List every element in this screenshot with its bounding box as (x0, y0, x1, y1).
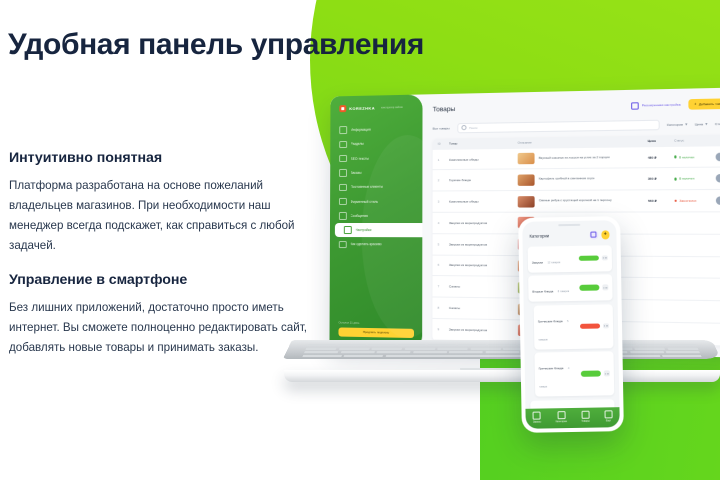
add-product-label: Добавить товар (699, 102, 720, 107)
help-icon (339, 241, 346, 249)
category-count: 12 товаров (547, 261, 560, 264)
row-index: 3 (438, 200, 449, 204)
status-badge: В наличии (674, 154, 712, 159)
row-price: 560 ₽ (648, 199, 675, 203)
sidebar-item-seo[interactable]: SEO-тексты (330, 151, 422, 166)
feature-text: Платформа разработана на основе пожелани… (9, 176, 314, 256)
nav-tab-label: Ещё (606, 420, 611, 423)
seo-icon (339, 155, 346, 163)
feature-title: Управление в смартфоне (9, 272, 314, 288)
row-description-text: Свиные ребра с хрустящей корочкой на 1 п… (539, 199, 612, 203)
product-thumbnail (518, 174, 535, 185)
status-label: Закончился (679, 199, 696, 203)
row-product-name: Салаты (449, 285, 518, 290)
row-description-text: Картофель грибной в сметанном соусе (539, 177, 595, 181)
chevron-down-icon (685, 123, 687, 125)
sidebar-item-label: Разделы (351, 142, 364, 146)
status-badge (675, 311, 713, 312)
device-mockups: KOREZHKA конструктор сайтов Информация Р… (282, 92, 720, 422)
toggle-switch[interactable] (581, 371, 601, 377)
row-index: 7 (438, 285, 449, 289)
product-thumbnail (518, 196, 535, 207)
category-name: Вторые блюда (532, 289, 553, 293)
avatar (716, 174, 720, 183)
row-price: 480 ₽ (648, 155, 675, 160)
status-dot-icon (674, 178, 677, 181)
row-index: 5 (438, 242, 449, 246)
sidebar-item-clients[interactable]: Постоянные клиенты (330, 180, 422, 195)
header-actions: Расширенная настройка + Добавить товар (631, 98, 720, 110)
status-label: В наличии (679, 177, 694, 181)
category-info: Греческие блюда 4 товара (539, 356, 579, 393)
brand-tagline: конструктор сайтов (381, 106, 403, 110)
view-icon[interactable] (589, 231, 598, 240)
row-product-name: Салаты (449, 306, 518, 311)
category-name: Закуски (532, 260, 543, 264)
table-row[interactable]: 2 Горячие блюда Картофель грибной в смет… (433, 168, 720, 192)
phone-mockup: Категории + Закуски 12 товаров (518, 216, 624, 433)
tag-icon (581, 410, 589, 418)
add-product-button[interactable]: + Добавить товар (688, 98, 720, 109)
sidebar-item-style[interactable]: Фирменный стиль (330, 194, 422, 209)
sidebar-item-label: Как сделать красиво (350, 242, 381, 246)
laptop-keyboard (302, 344, 703, 358)
slide-canvas: Удобная панель управления Интуитивно пон… (0, 0, 720, 480)
chevron-down-icon (705, 123, 707, 125)
row-index: 4 (438, 221, 449, 225)
plus-icon: + (694, 102, 697, 106)
toggle-switch[interactable] (579, 285, 599, 291)
brand-name: KOREZHKA (349, 106, 375, 112)
laptop-mockup: KOREZHKA конструктор сайтов Информация Р… (282, 92, 720, 422)
more-icon[interactable] (603, 323, 609, 329)
column-id: ID (438, 142, 449, 146)
sidebar-item-label: Заказы (350, 171, 361, 175)
column-status: Статус (674, 138, 712, 143)
nav-tab-label: Товары (581, 420, 589, 423)
advanced-settings-label: Расширенная настройка (642, 102, 681, 107)
search-placeholder: Поиск (469, 126, 477, 130)
style-icon (339, 198, 346, 206)
sidebar-item-messages[interactable]: Сообщения (330, 208, 422, 223)
filter-status[interactable]: Статус (715, 121, 720, 125)
sections-icon (339, 141, 346, 149)
sidebar-item-help[interactable]: Как сделать красиво (330, 237, 422, 252)
column-price: Цена (648, 139, 675, 144)
sidebar-item-label: SEO-тексты (351, 156, 369, 160)
brand-logo[interactable]: KOREZHKA конструктор сайтов (330, 104, 422, 124)
row-product-name: Закуски из морепродуктов (449, 242, 518, 246)
messages-icon (339, 212, 346, 220)
column-product: Товар (449, 141, 518, 146)
filter-price[interactable]: Цена (695, 122, 707, 126)
more-icon[interactable] (604, 371, 610, 377)
column-description: Описание (518, 139, 648, 145)
nav-tab-products[interactable]: Товары (581, 410, 589, 423)
orders-icon (533, 411, 541, 419)
filter-bar: Все товары Поиск Категория Цена (433, 119, 720, 134)
sidebar: KOREZHKA конструктор сайтов Информация Р… (329, 94, 422, 350)
filter-label: Статус (715, 121, 720, 125)
list-item[interactable]: Закуски 12 товаров (528, 245, 612, 272)
feature-block-mobile: Управление в смартфоне Без лишних прилож… (9, 272, 314, 358)
sidebar-item-label: Настройки (355, 228, 371, 232)
sidebar-item-settings[interactable]: Настройки (335, 223, 422, 238)
status-label: В наличии (679, 155, 694, 159)
status-dot-icon (674, 156, 677, 159)
table-row[interactable]: 3 Комплексные обеды Свиные ребра с хруст… (433, 190, 720, 213)
category-info: Вторые блюда 8 товаров (532, 279, 576, 298)
row-index: 6 (438, 263, 449, 267)
laptop-base (282, 330, 720, 388)
info-icon (339, 126, 346, 134)
product-thumbnail (518, 153, 535, 165)
status-dot-icon (675, 200, 678, 203)
toggle-switch[interactable] (580, 323, 600, 329)
grid-icon (557, 411, 565, 419)
row-description: Картофель грибной в сметанном соусе (518, 173, 648, 185)
category-info: Закуски 12 товаров (532, 249, 576, 268)
more-icon[interactable] (602, 285, 608, 291)
row-index: 8 (438, 306, 449, 310)
sidebar-item-label: Постоянные клиенты (350, 185, 382, 189)
phone-header-actions: + (589, 230, 609, 239)
list-item[interactable]: Вторые блюда 8 товаров (528, 274, 612, 301)
feature-text: Без лишних приложений, достаточно просто… (9, 298, 314, 358)
filter-label: Цена (695, 122, 703, 126)
row-product-name: Закуски из морепродуктов (449, 221, 518, 225)
status-badge: Закончился (675, 199, 713, 203)
sidebar-item-sections[interactable]: Разделы (330, 136, 422, 152)
sidebar-item-info[interactable]: Информация (330, 122, 422, 138)
search-input[interactable]: Поиск (457, 120, 659, 133)
row-product-name: Комплексные обеды (449, 199, 518, 203)
orders-icon (339, 169, 346, 177)
nav-tab-categories[interactable]: Категории (555, 411, 566, 424)
search-icon (461, 125, 467, 131)
row-description: Вкусный шашлык из лосося на углях за 2 п… (518, 151, 648, 164)
more-icon[interactable] (602, 255, 608, 261)
subscription-status: Остался 21 день (339, 321, 415, 325)
avatar (716, 197, 720, 206)
content-header: Товары Расширенная настройка + Добавить … (433, 98, 720, 114)
phone-screen: Категории + Закуски 12 товаров (522, 220, 620, 429)
row-actions[interactable] (712, 152, 720, 161)
nav-tab-label: Категории (556, 420, 567, 423)
nav-tab-orders[interactable]: Заказы (533, 411, 541, 424)
sidebar-item-label: Сообщения (350, 214, 368, 218)
content-title: Товары (433, 105, 456, 113)
row-description-text: Вкусный шашлык из лосося на углях за 2 п… (539, 156, 610, 161)
toggle-switch[interactable] (579, 255, 599, 261)
filter-category[interactable]: Категория (667, 122, 687, 127)
avatar (716, 152, 720, 161)
phone-title: Категории (529, 233, 549, 238)
laptop-front-lip (284, 370, 720, 382)
sidebar-item-orders[interactable]: Заказы (330, 165, 422, 180)
row-actions[interactable] (712, 174, 720, 183)
logo-icon (339, 105, 346, 112)
row-product-name: Комплексные обеды (449, 157, 518, 162)
list-item[interactable]: Греческие блюда 5 товаров (534, 304, 614, 349)
filter-tab-all[interactable]: Все товары (433, 126, 450, 130)
category-name: Греческие блюда (538, 319, 563, 323)
category-info: Греческие блюда 5 товаров (538, 308, 578, 345)
row-product-name: Горячие блюда (449, 178, 518, 183)
sidebar-item-label: Фирменный стиль (350, 199, 378, 203)
nav-tab-label: Заказы (533, 421, 541, 424)
row-actions[interactable] (713, 197, 720, 206)
feature-title: Интуитивно понятная (9, 150, 314, 166)
clients-icon (339, 183, 346, 191)
status-badge: В наличии (674, 177, 712, 182)
phone-bottom-nav: Заказы Категории Товары Ещё (525, 407, 619, 429)
page-title: Удобная панель управления (8, 28, 424, 62)
plus-icon[interactable]: + (601, 230, 610, 239)
advanced-settings-link[interactable]: Расширенная настройка (631, 101, 680, 109)
category-list: Закуски 12 товаров Вторые блюда 8 товаро… (523, 245, 620, 409)
category-count: 8 товаров (558, 290, 569, 293)
sidebar-item-label: Информация (351, 128, 371, 132)
gear-icon (344, 226, 351, 234)
row-product-name: Закуски из морепродуктов (449, 263, 518, 268)
table-row[interactable]: 1 Комплексные обеды Вкусный шашлык из ло… (433, 146, 720, 171)
row-price: 350 ₽ (648, 177, 675, 181)
settings-icon (631, 102, 639, 109)
row-index: 2 (438, 179, 449, 183)
feature-block-intuitive: Интуитивно понятная Платформа разработан… (9, 150, 314, 256)
filter-label: Категория (667, 122, 683, 126)
list-item[interactable]: Греческие блюда 4 товара (534, 351, 614, 396)
row-description: Свиные ребра с хрустящей корочкой на 1 п… (518, 195, 648, 207)
row-index: 1 (438, 157, 449, 161)
nav-tab-more[interactable]: Ещё (604, 410, 612, 423)
more-icon (604, 410, 612, 418)
category-name: Греческие блюда (539, 366, 564, 370)
